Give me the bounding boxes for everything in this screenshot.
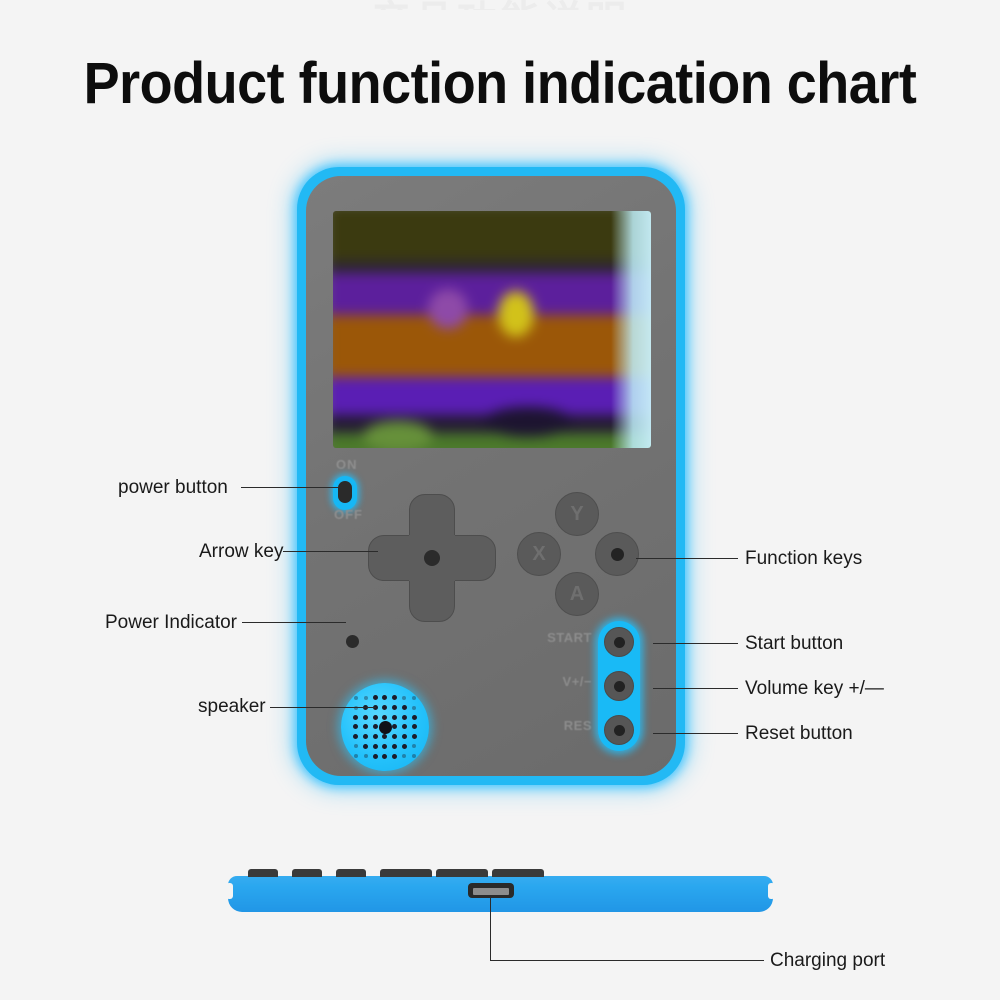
reset-button[interactable]	[604, 715, 634, 745]
side-button-pill	[598, 621, 640, 751]
callout-volume-key: Volume key +/—	[745, 678, 884, 700]
power-switch-knob	[338, 481, 352, 503]
power-indicator-led	[346, 635, 359, 648]
charging-port-inner	[473, 888, 509, 895]
edge-tab-2	[292, 869, 322, 877]
leader-line-arrow-key	[283, 551, 378, 552]
dpad-arrow-key[interactable]	[368, 494, 496, 622]
face-button-x[interactable]: X	[517, 532, 561, 576]
leader-line-start-button	[653, 643, 738, 644]
edge-tab-5	[436, 869, 488, 877]
edge-tab-6	[492, 869, 544, 877]
product-diagram-page: 产品功能说明 Product function indication chart	[0, 0, 1000, 1000]
leader-line-power-button	[241, 487, 342, 488]
face-button-a[interactable]: A	[555, 572, 599, 616]
volume-button[interactable]	[604, 671, 634, 701]
callout-speaker: speaker	[198, 696, 266, 718]
callout-power-indicator: Power Indicator	[105, 612, 237, 634]
callout-power-button: power button	[118, 477, 228, 499]
leader-line-speaker	[270, 707, 376, 708]
edge-tab-4	[380, 869, 432, 877]
edge-notch-right	[768, 883, 775, 899]
leader-line-charging-port-vertical	[490, 898, 491, 960]
start-button[interactable]	[604, 627, 634, 657]
volume-silkscreen-label: V+/−	[534, 674, 592, 689]
speaker-center-hole	[379, 721, 392, 734]
screen-game-image	[333, 211, 651, 448]
edge-tab-3	[336, 869, 366, 877]
edge-tab-1	[248, 869, 278, 877]
callout-arrow-key: Arrow key	[199, 541, 283, 563]
page-title: Product function indication chart	[35, 52, 965, 116]
charging-port	[468, 883, 514, 898]
leader-line-power-indicator	[242, 622, 346, 623]
callout-charging-port: Charging port	[770, 950, 885, 972]
switch-on-label: ON	[336, 457, 358, 472]
game-screen	[333, 211, 651, 448]
console-body: ON OFF	[306, 176, 676, 776]
face-button-b[interactable]	[595, 532, 639, 576]
leader-line-charging-port-horizontal	[490, 960, 764, 961]
edge-top-tabs	[248, 869, 753, 877]
leader-line-function-keys	[636, 558, 738, 559]
callout-start-button: Start button	[745, 633, 843, 655]
console-bottom-edge-view	[228, 876, 773, 912]
switch-off-label: OFF	[334, 507, 363, 522]
callout-function-keys: Function keys	[745, 548, 862, 570]
edge-notch-left	[226, 883, 233, 899]
face-button-b-dot	[611, 548, 624, 561]
start-silkscreen-label: START	[534, 630, 592, 645]
callout-reset-button: Reset button	[745, 723, 853, 745]
reset-silkscreen-label: RES	[534, 718, 592, 733]
screen-glare	[611, 211, 651, 448]
dpad-center-dot	[424, 550, 440, 566]
power-switch[interactable]	[333, 476, 357, 510]
face-button-y[interactable]: Y	[555, 492, 599, 536]
leader-line-reset-button	[653, 733, 738, 734]
console-front-view: ON OFF	[297, 167, 685, 785]
pretitle-text: 产品功能说明	[0, 0, 1000, 10]
leader-line-volume-key	[653, 688, 738, 689]
speaker	[341, 683, 429, 771]
